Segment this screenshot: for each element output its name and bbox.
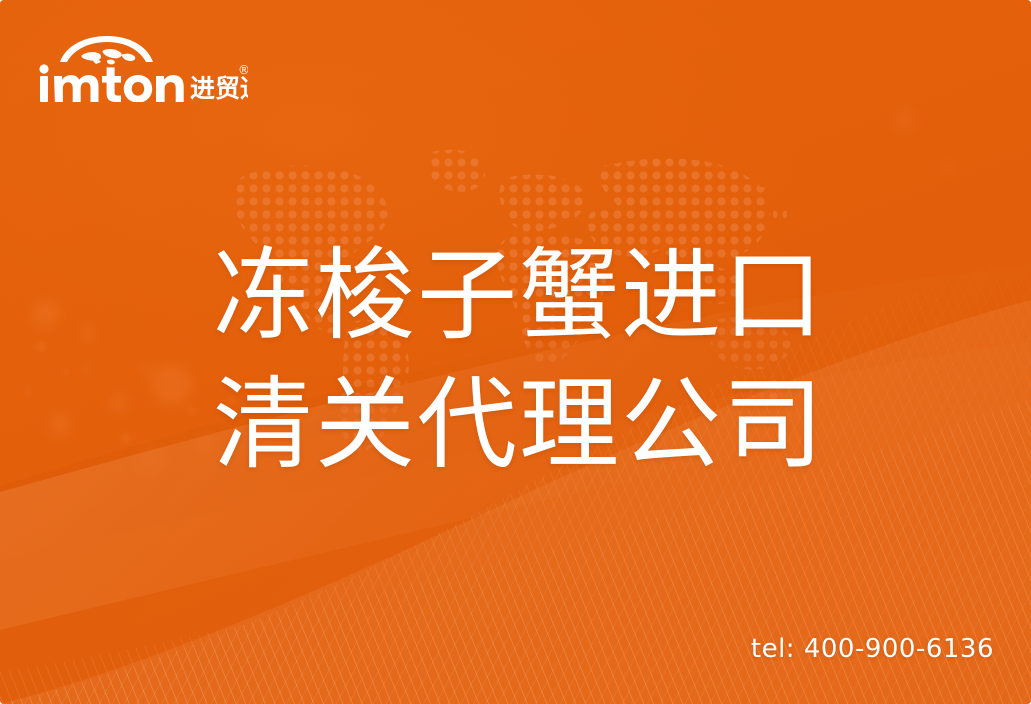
imton-logo[interactable]: 进贸通 ® [38, 34, 248, 102]
logo-graphic: 进贸通 ® [38, 34, 248, 102]
logo-wordmark-imton [39, 64, 183, 102]
logo-trademark: ® [238, 63, 248, 77]
logo-chinese-text: 进贸通 [190, 74, 248, 102]
headline-line-1: 冻梭子蟹进口 [213, 231, 853, 360]
headline-line-2: 清关代理公司 [213, 360, 853, 489]
globe-arc-icon [60, 36, 153, 62]
globe-continents-icon [81, 49, 135, 64]
contact-phone[interactable]: tel: 400-900-6136 [751, 634, 994, 664]
page-title: 冻梭子蟹进口 清关代理公司 [213, 231, 853, 489]
promo-banner: 进贸通 ® 冻梭子蟹进口 清关代理公司 tel: 400-900-6136 [0, 0, 1031, 704]
